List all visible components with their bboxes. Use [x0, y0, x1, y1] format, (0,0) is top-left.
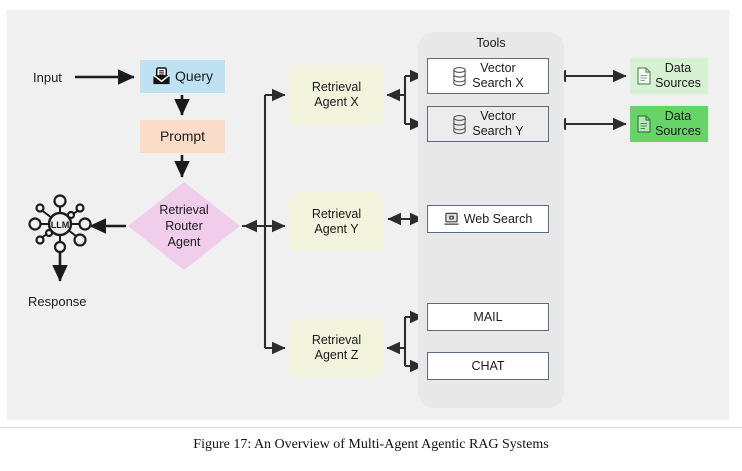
- prompt-node[interactable]: Prompt: [140, 120, 225, 153]
- vector-x-line2: Search X: [472, 76, 523, 91]
- data-sources-2-line2: Sources: [655, 124, 701, 139]
- data-sources-2-label: Data Sources: [655, 109, 701, 139]
- data-sources-1-line1: Data: [655, 61, 701, 76]
- vector-search-y-label: Vector Search Y: [472, 109, 523, 139]
- data-sources-1-line2: Sources: [655, 76, 701, 91]
- input-label: Input: [33, 70, 62, 85]
- vector-y-line1: Vector: [472, 109, 523, 124]
- query-label: Query: [175, 68, 213, 85]
- vector-search-x-node[interactable]: Vector Search X: [427, 58, 549, 94]
- agent-y-line1: Retrieval: [312, 207, 361, 222]
- caption-divider: [0, 427, 742, 428]
- retrieval-agent-x-node[interactable]: Retrieval Agent X: [289, 65, 384, 125]
- agent-x-line1: Retrieval: [312, 80, 361, 95]
- data-sources-2-line1: Data: [655, 109, 701, 124]
- agent-z-line1: Retrieval: [312, 333, 361, 348]
- document-icon: [637, 67, 651, 85]
- router-label-line2: Router: [165, 218, 203, 234]
- data-sources-node-1[interactable]: Data Sources: [630, 58, 708, 94]
- chat-label: CHAT: [471, 359, 504, 374]
- figure-caption: Figure 17: An Overview of Multi-Agent Ag…: [0, 437, 742, 453]
- envelope-document-icon: [152, 67, 171, 86]
- chat-node[interactable]: CHAT: [427, 352, 549, 380]
- vector-search-y-node[interactable]: Vector Search Y: [427, 106, 549, 142]
- web-search-node[interactable]: Web Search: [427, 205, 549, 233]
- agent-x-line2: Agent X: [314, 95, 358, 110]
- llm-icon-text: LLM: [51, 220, 70, 230]
- retrieval-agent-z-node[interactable]: Retrieval Agent Z: [289, 318, 384, 378]
- router-label-line3: Agent: [168, 234, 201, 250]
- query-node[interactable]: Query: [140, 60, 225, 93]
- database-icon: [452, 114, 467, 135]
- prompt-label: Prompt: [160, 128, 205, 145]
- data-sources-node-2[interactable]: Data Sources: [630, 106, 708, 142]
- tools-panel-title: Tools: [418, 36, 564, 50]
- vector-x-line1: Vector: [472, 61, 523, 76]
- mail-label: MAIL: [473, 310, 502, 325]
- vector-y-line2: Search Y: [472, 124, 523, 139]
- retrieval-router-agent-node[interactable]: Retrieval Router Agent: [128, 182, 240, 270]
- web-search-label: Web Search: [464, 212, 533, 227]
- response-label: Response: [28, 294, 87, 309]
- retrieval-agent-y-node[interactable]: Retrieval Agent Y: [289, 192, 384, 252]
- llm-network-icon: LLM: [28, 193, 92, 255]
- agent-y-line2: Agent Y: [314, 222, 358, 237]
- data-sources-1-label: Data Sources: [655, 61, 701, 91]
- monitor-icon: [444, 212, 459, 226]
- agent-z-line2: Agent Z: [315, 348, 359, 363]
- router-label: Retrieval Router Agent: [128, 182, 240, 270]
- database-icon: [452, 66, 467, 87]
- document-icon: [637, 115, 651, 133]
- vector-search-x-label: Vector Search X: [472, 61, 523, 91]
- figure-container: Input Response: [0, 0, 742, 471]
- router-label-line1: Retrieval: [159, 202, 208, 218]
- mail-node[interactable]: MAIL: [427, 303, 549, 331]
